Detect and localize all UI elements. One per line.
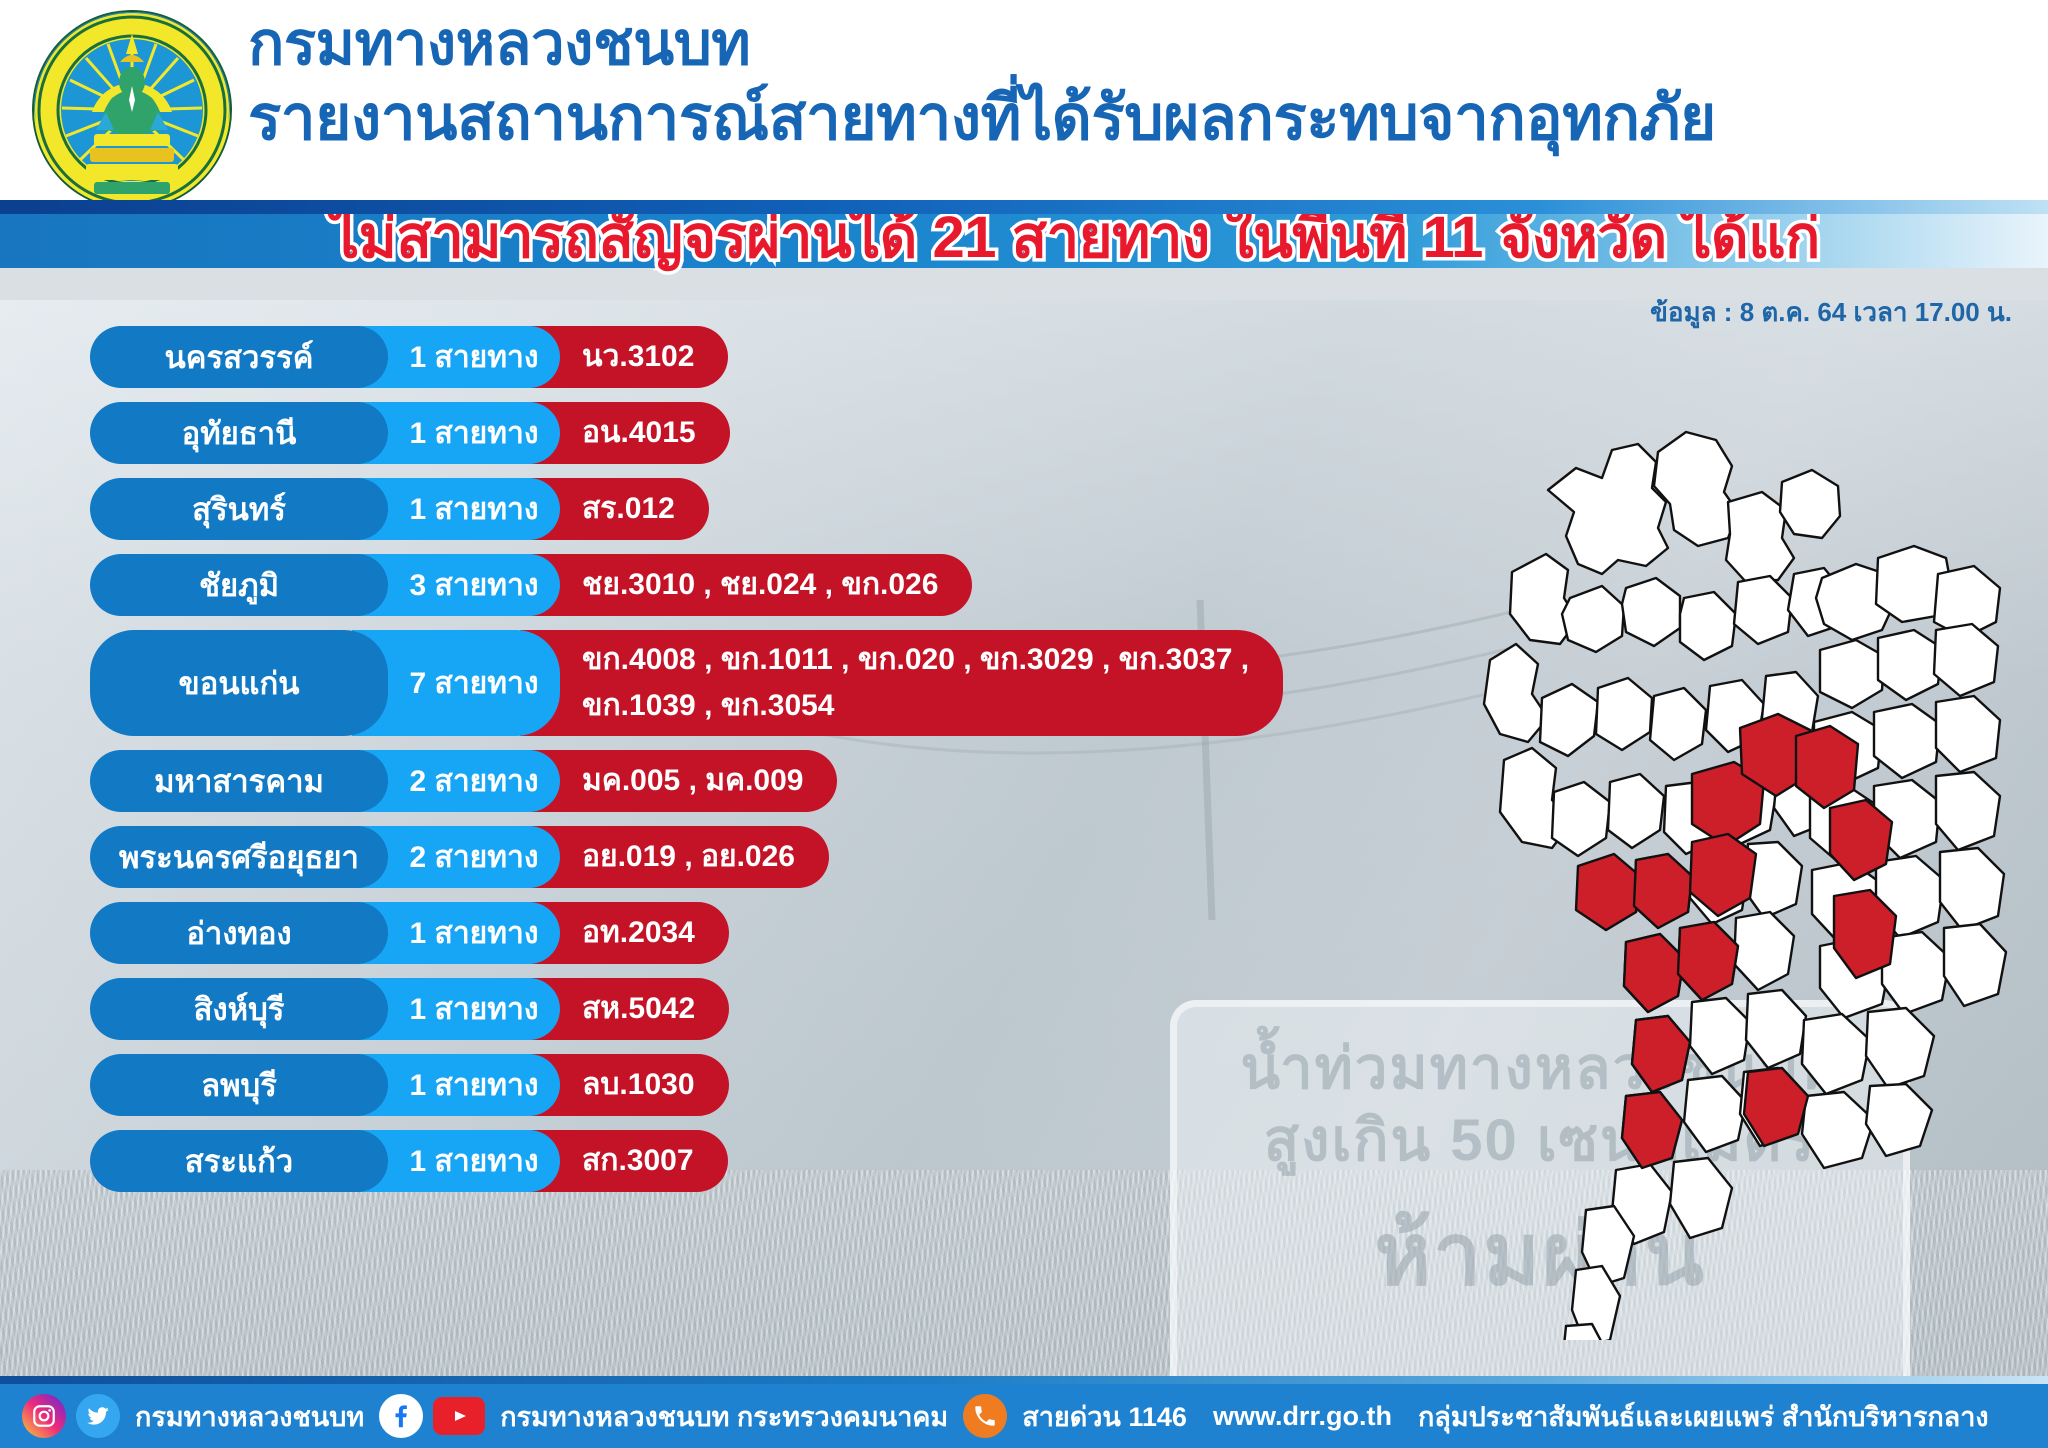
province-name: อ่างทอง — [90, 902, 388, 964]
page-header: กรมทางหลวงชนบท รายงานสถานการณ์สายทางที่ไ… — [0, 0, 2048, 214]
province-route-table: นครสวรรค์1 สายทางนว.3102อุทัยธานี1 สายทา… — [0, 326, 1400, 1206]
province-name: ชัยภูมิ — [90, 554, 388, 616]
twitter-icon[interactable] — [76, 1394, 120, 1438]
table-row: นครสวรรค์1 สายทางนว.3102 — [0, 326, 1400, 388]
header-title-block: กรมทางหลวงชนบท รายงานสถานการณ์สายทางที่ไ… — [248, 14, 1716, 150]
province-name: ลพบุรี — [90, 1054, 388, 1116]
province-name: สุรินทร์ — [90, 478, 388, 540]
province-name: นครสวรรค์ — [90, 326, 388, 388]
header-bottom-stripe — [0, 200, 2048, 214]
data-timestamp: ข้อมูล : 8 ต.ค. 64 เวลา 17.00 น. — [1650, 292, 2012, 333]
department-of-rural-roads-seal-icon — [34, 12, 230, 208]
route-codes: ขก.4008 , ขก.1011 , ขก.020 , ขก.3029 , ข… — [520, 630, 1283, 736]
province-name: สระแก้ว — [90, 1130, 388, 1192]
social-handle-2: กรมทางหลวงชนบท กระทรวงคมนาคม — [500, 1395, 948, 1438]
table-row: ขอนแก่น7 สายทางขก.4008 , ขก.1011 , ขก.02… — [0, 630, 1400, 736]
website-link[interactable]: www.drr.go.th — [1213, 1401, 1392, 1432]
province-name: มหาสารคาม — [90, 750, 388, 812]
table-row: อุทัยธานี1 สายทางอน.4015 — [0, 402, 1400, 464]
footer-top-stripe — [0, 1376, 2048, 1384]
table-row: มหาสารคาม2 สายทางมค.005 , มค.009 — [0, 750, 1400, 812]
table-row: สุรินทร์1 สายทางสร.012 — [0, 478, 1400, 540]
route-codes: อย.019 , อย.026 — [520, 826, 829, 888]
table-row: สิงห์บุรี1 สายทางสห.5042 — [0, 978, 1400, 1040]
route-codes: ชย.3010 , ชย.024 , ขก.026 — [520, 554, 972, 616]
table-row: สระแก้ว1 สายทางสก.3007 — [0, 1130, 1400, 1192]
phone-icon[interactable] — [963, 1394, 1007, 1438]
table-row: ลพบุรี1 สายทางลบ.1030 — [0, 1054, 1400, 1116]
province-name: พระนครศรีอยุธยา — [90, 826, 388, 888]
instagram-icon[interactable] — [22, 1394, 66, 1438]
social-handle-1: กรมทางหลวงชนบท — [135, 1395, 364, 1438]
thailand-map — [1430, 330, 2030, 1340]
page-title: กรมทางหลวงชนบท — [248, 14, 1716, 74]
province-name: ขอนแก่น — [90, 630, 388, 736]
table-row: ชัยภูมิ3 สายทางชย.3010 , ชย.024 , ขก.026 — [0, 554, 1400, 616]
hotline-label: สายด่วน 1146 — [1022, 1395, 1187, 1438]
page-footer: กรมทางหลวงชนบท กรมทางหลวงชนบท กระทรวงคมน… — [0, 1384, 2048, 1448]
route-codes: มค.005 , มค.009 — [520, 750, 837, 812]
page-subtitle: รายงานสถานการณ์สายทางที่ได้รับผลกระทบจาก… — [248, 88, 1716, 150]
department-label: กลุ่มประชาสัมพันธ์และเผยแพร่ สำนักบริหาร… — [1418, 1395, 1989, 1438]
facebook-icon[interactable] — [379, 1394, 423, 1438]
infographic-page: น้ำท่วมทางหลวงชนบท สูงเกิน 50 เซนติเมตร … — [0, 0, 2048, 1448]
table-row: อ่างทอง1 สายทางอท.2034 — [0, 902, 1400, 964]
table-row: พระนครศรีอยุธยา2 สายทางอย.019 , อย.026 — [0, 826, 1400, 888]
youtube-icon[interactable] — [433, 1397, 485, 1435]
province-name: อุทัยธานี — [90, 402, 388, 464]
province-name: สิงห์บุรี — [90, 978, 388, 1040]
